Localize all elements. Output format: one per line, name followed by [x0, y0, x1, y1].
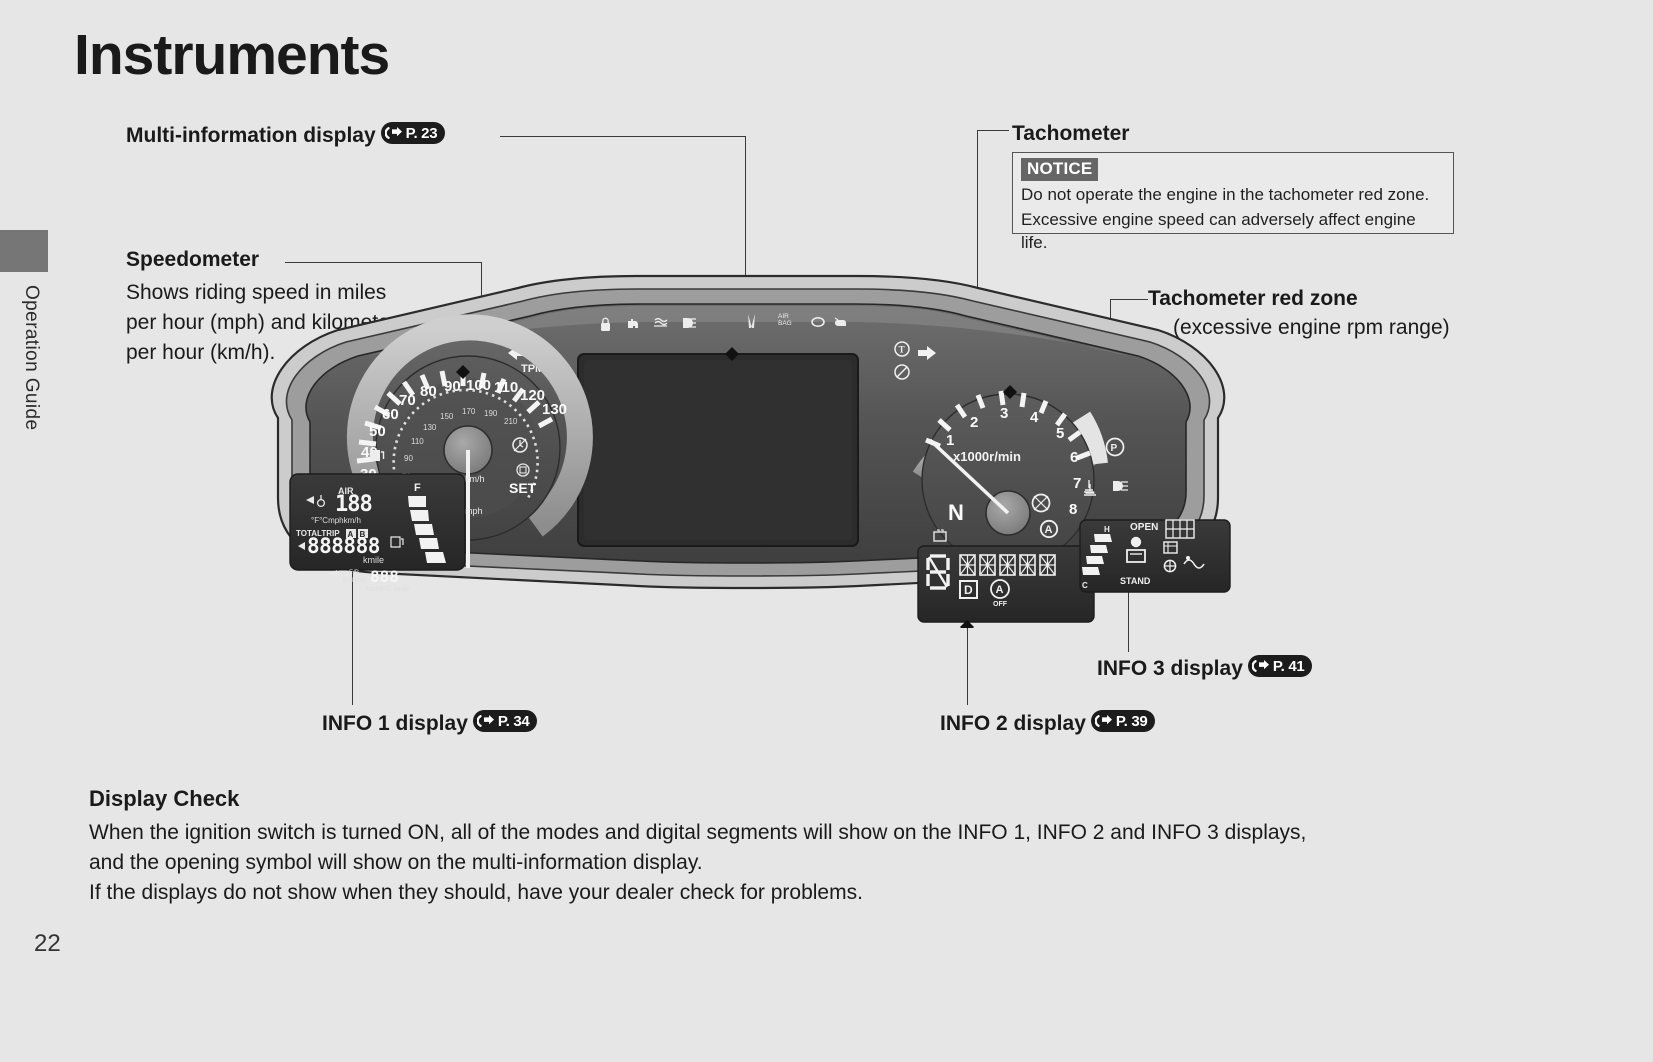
cruise-set-label: SET — [509, 480, 537, 496]
notice-box: NOTICE Do not operate the engine in the … — [1012, 152, 1454, 234]
leader-line-multi-info-h — [500, 136, 745, 137]
leader-line-speedometer-h — [285, 262, 481, 263]
speed-label-50: 50 — [369, 423, 386, 440]
svg-text:170: 170 — [462, 407, 476, 416]
page-reference-badge[interactable]: P. 41 — [1248, 655, 1313, 677]
speedometer-unit-kmh: km/h — [465, 474, 485, 484]
callout-title: INFO 1 display — [322, 712, 468, 735]
callout-info2-display: INFO 2 displayP. 39 — [940, 710, 1155, 736]
info1-trip-units: kmile — [363, 555, 384, 565]
info1-air-value: 188 — [335, 492, 372, 517]
info3-hot-label: H — [1104, 525, 1110, 534]
info3-open-label: OPEN — [1130, 522, 1158, 533]
page-reference-text: P. 34 — [498, 713, 530, 730]
page-reference-badge[interactable]: P. 34 — [473, 710, 538, 732]
notice-line2: Excessive engine speed can adversely aff… — [1021, 208, 1445, 254]
svg-text:130: 130 — [423, 423, 437, 432]
page-reference-text: P. 39 — [1116, 713, 1148, 730]
callout-title: Tachometer — [1012, 122, 1129, 145]
tach-label-3: 3 — [1000, 405, 1008, 422]
neutral-indicator-label: N — [948, 500, 964, 525]
svg-text:T: T — [899, 345, 905, 355]
info1-range-value: 888 — [370, 567, 399, 586]
multi-information-display-inner — [584, 360, 852, 540]
page-reference-text: P. 23 — [406, 125, 438, 142]
leader-line-tachometer-h — [977, 130, 1009, 131]
display-check-body: When the ignition switch is turned ON, a… — [89, 818, 1509, 908]
callout-title: INFO 3 display — [1097, 657, 1243, 680]
svg-text:150: 150 — [440, 412, 454, 421]
page-reference-badge[interactable]: P. 23 — [381, 122, 446, 144]
page-reference-badge[interactable]: P. 39 — [1091, 710, 1156, 732]
svg-text:P: P — [1111, 443, 1118, 454]
section-tab-label: Operation Guide — [6, 285, 42, 430]
display-check-section: Display Check When the ignition switch i… — [89, 786, 1509, 908]
tach-label-6: 6 — [1070, 449, 1078, 466]
display-check-line1: When the ignition switch is turned ON, a… — [89, 818, 1509, 848]
info3-stand-label: STAND — [1120, 576, 1151, 586]
svg-text:AIR: AIR — [778, 313, 789, 320]
callout-title: Multi-information display — [126, 124, 376, 147]
info1-range-units: kmMPG kmile — [366, 586, 410, 593]
tach-label-7: 7 — [1073, 475, 1081, 492]
info1-arrow-marker-3 — [330, 570, 337, 578]
high-beam-icon — [683, 318, 696, 328]
info3-accessory-icon-2 — [1164, 560, 1175, 571]
fog-light-icon — [1113, 481, 1128, 491]
info1-air-units: °F°Cmphkm/h — [311, 516, 361, 525]
svg-text:D: D — [964, 583, 973, 597]
speed-label-130: 130 — [542, 401, 567, 418]
info3-display: H C OPEN STAND — [1080, 520, 1230, 592]
info2-display: D A OFF — [918, 546, 1094, 628]
callout-multi-information-display: Multi-information displayP. 23 — [126, 122, 445, 148]
display-check-line2: and the opening symbol will show on the … — [89, 848, 1509, 878]
svg-text:210: 210 — [504, 417, 518, 426]
svg-text:OFF: OFF — [993, 601, 1008, 608]
instrument-cluster-illustration: AIR BAG TPMS T — [218, 268, 1278, 628]
svg-text:F/B: F/B — [349, 569, 359, 576]
page-title: Instruments — [74, 22, 389, 88]
tach-label-2: 2 — [970, 414, 978, 431]
svg-text:190: 190 — [484, 409, 498, 418]
display-check-line3: If the displays do not show when they sh… — [89, 878, 1509, 908]
callout-tachometer: Tachometer — [1012, 122, 1129, 146]
callout-title: INFO 2 display — [940, 712, 1086, 735]
arrow-right-icon — [1252, 659, 1270, 673]
speedometer-unit-mph: mph — [465, 506, 483, 516]
svg-text:BAG: BAG — [778, 320, 792, 327]
svg-text:A: A — [1045, 524, 1053, 536]
display-check-title: Display Check — [89, 786, 1509, 812]
speed-label-110: 110 — [494, 379, 518, 396]
info3-cold-label: C — [1082, 581, 1088, 590]
arrow-right-icon — [1095, 714, 1113, 728]
tachometer-unit-label: x1000r/min — [953, 449, 1021, 464]
tach-label-8: 8 — [1069, 501, 1077, 518]
callout-info1-display: INFO 1 displayP. 34 — [322, 710, 537, 736]
svg-text:90: 90 — [404, 454, 413, 463]
arrow-right-icon — [385, 126, 403, 140]
tach-label-5: 5 — [1056, 425, 1064, 442]
svg-text:110: 110 — [411, 437, 424, 446]
page-reference-text: P. 41 — [1273, 658, 1305, 675]
speed-label-70: 70 — [399, 392, 416, 409]
tach-label-1: 1 — [946, 432, 954, 449]
speed-label-100: 100 — [466, 377, 491, 394]
section-tab-marker — [0, 230, 48, 272]
notice-tag: NOTICE — [1021, 158, 1098, 181]
info2-character-cells — [960, 555, 1055, 575]
notice-line1: Do not operate the engine in the tachome… — [1021, 183, 1445, 206]
page-number: 22 — [34, 930, 61, 958]
svg-text:A: A — [996, 584, 1004, 596]
info1-fuel-full-label: F — [414, 482, 421, 494]
tach-label-4: 4 — [1030, 409, 1039, 426]
info1-range-label: RANGE — [343, 577, 367, 584]
callout-info3-display: INFO 3 displayP. 41 — [1097, 655, 1312, 681]
speed-label-60: 60 — [382, 406, 399, 423]
arrow-right-icon — [477, 714, 495, 728]
